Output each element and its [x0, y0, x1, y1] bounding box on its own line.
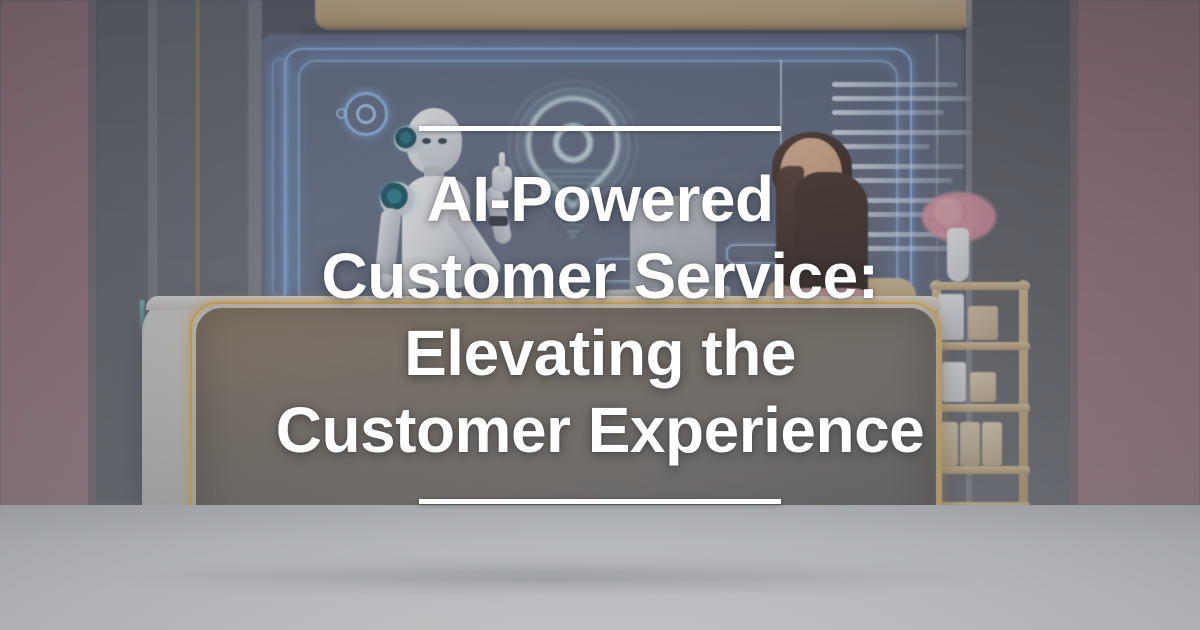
headline-overlay: AI-Powered Customer Service: Elevating t…	[0, 0, 1200, 630]
top-divider-rule	[419, 126, 781, 131]
page-title: AI-Powered Customer Service: Elevating t…	[236, 161, 965, 469]
social-share-banner: AI-Powered Customer Service: Elevating t…	[0, 0, 1200, 630]
bottom-divider-rule	[419, 499, 781, 504]
